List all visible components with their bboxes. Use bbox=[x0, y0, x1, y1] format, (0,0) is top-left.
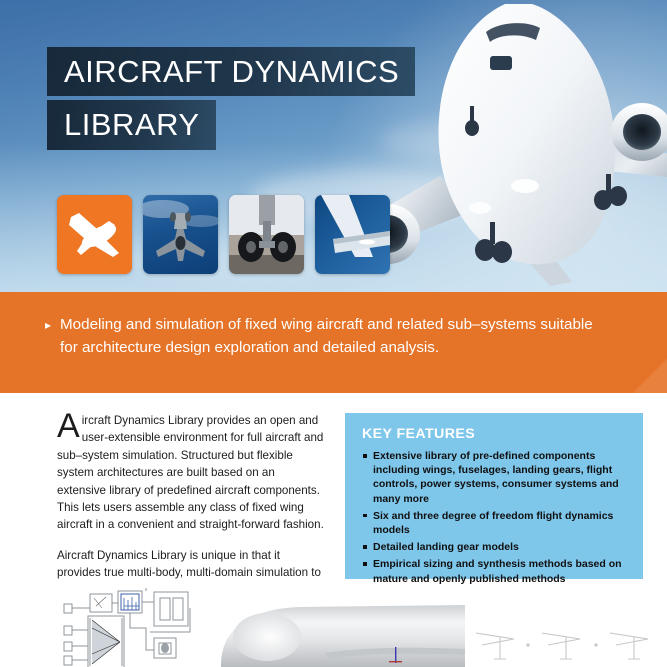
key-features-list: Extensive library of pre-defined compone… bbox=[362, 449, 627, 603]
list-item: Extensive library of pre-defined compone… bbox=[362, 449, 627, 506]
thumbnail-fighter-jet-photo[interactable] bbox=[143, 195, 218, 274]
tagline-banner: ▸ Modeling and simulation of fixed wing … bbox=[0, 292, 667, 393]
key-features-card: KEY FEATURES Extensive library of pre-de… bbox=[345, 413, 643, 579]
bottom-graphics-strip bbox=[0, 585, 667, 667]
thumbnail-strip bbox=[57, 195, 390, 274]
thumbnail-wing-tail-photo[interactable] bbox=[315, 195, 390, 274]
page-title-line1: AIRCRAFT DYNAMICS bbox=[47, 47, 415, 96]
page-title-line2-text: LIBRARY bbox=[64, 107, 200, 143]
brochure-page: AIRCRAFT DYNAMICS LIBRARY bbox=[0, 0, 667, 667]
banner-fold-decoration bbox=[633, 359, 667, 393]
banner-bullet-icon: ▸ bbox=[45, 314, 51, 359]
thumbnail-aircraft-logo-icon[interactable] bbox=[57, 195, 132, 274]
fuselage-render-graphic bbox=[205, 591, 465, 667]
list-item: Six and three degree of freedom flight d… bbox=[362, 509, 627, 537]
list-item: Detailed landing gear models bbox=[362, 540, 627, 554]
thumbnail-landing-gear-photo[interactable] bbox=[229, 195, 304, 274]
page-title-line1-text: AIRCRAFT DYNAMICS bbox=[64, 54, 399, 90]
key-features-title: KEY FEATURES bbox=[362, 426, 627, 442]
intro-paragraph-1: Aircraft Dynamics Library provides an op… bbox=[57, 412, 325, 534]
aircraft-wireframe-graphic bbox=[470, 615, 667, 667]
banner-text: Modeling and simulation of fixed wing ai… bbox=[60, 314, 612, 359]
hero-header: AIRCRAFT DYNAMICS LIBRARY bbox=[0, 0, 667, 293]
page-title-line2: LIBRARY bbox=[47, 100, 216, 150]
list-item: Empirical sizing and synthesis methods b… bbox=[362, 557, 627, 585]
block-diagram-graphic bbox=[50, 588, 210, 667]
